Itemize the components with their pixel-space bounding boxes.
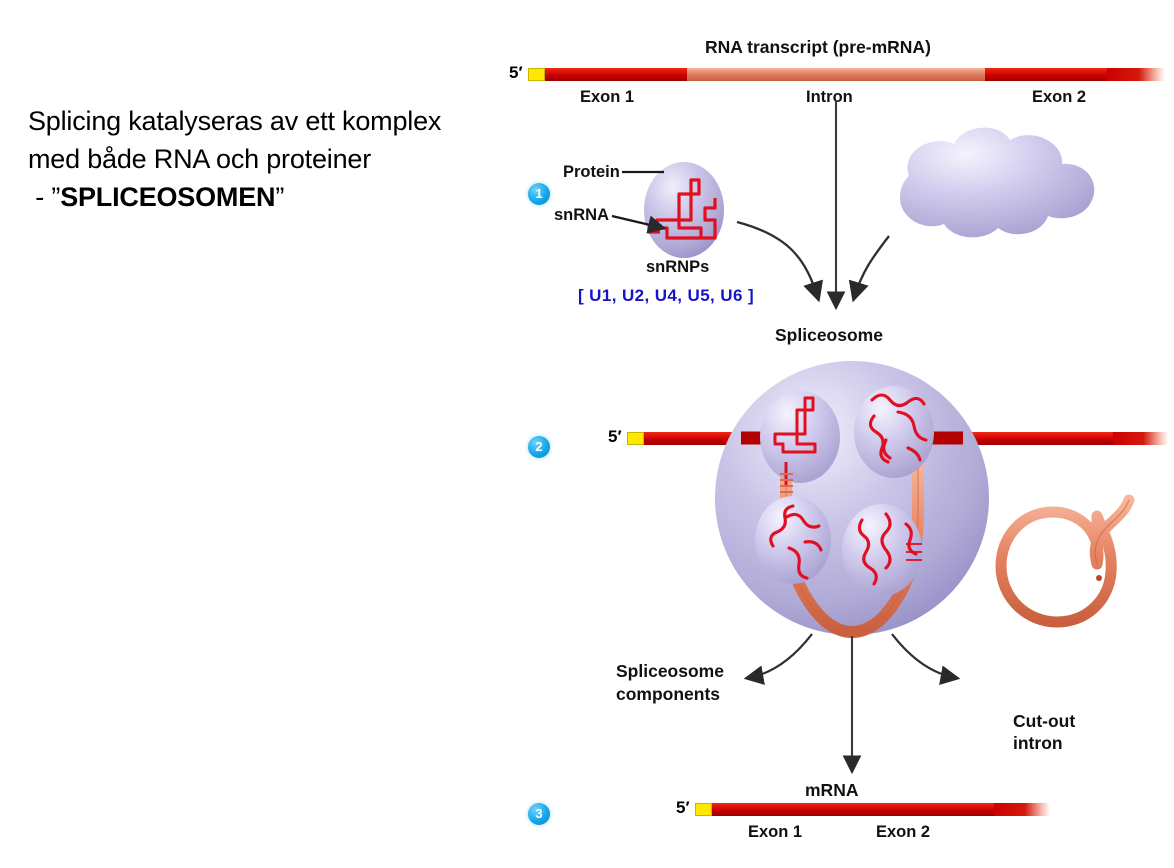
other-proteins-label: Other proteins [914, 196, 1035, 215]
five-prime-label-bottom: 5′ [676, 798, 690, 818]
spliceosome-keyword: SPLICEOSOMEN [60, 182, 275, 212]
five-prime-label-top: 5′ [509, 63, 523, 83]
cutout-intron-lariat-icon [1001, 500, 1129, 622]
mrna-title: mRNA [805, 781, 858, 800]
inner-snrnp-bottom-left [755, 496, 831, 584]
spliceosome-label: Spliceosome [775, 326, 883, 345]
exon1-bar-top [545, 68, 687, 81]
spliceosome-components-label-line2: components [616, 685, 720, 704]
five-prime-cap-middle [627, 432, 644, 445]
inner-snrnp-top-left [760, 391, 840, 486]
u-snrnp-list: [ U1, U2, U4, U5, U6 ] [578, 286, 754, 305]
cutout-intron-label-line2: intron [1013, 734, 1063, 753]
mrna-exon-bar-fade [994, 803, 1050, 816]
slide-body-text: Splicing katalyseras av ett komplex med … [28, 102, 498, 216]
exon1-label-top: Exon 1 [580, 88, 634, 107]
exon2-bar-fade-middle [1113, 432, 1168, 445]
step-3-badge: 3 [528, 803, 550, 825]
five-prime-cap-top [528, 68, 545, 81]
branch-point-pairing [780, 474, 793, 492]
cutout-intron-label-line1: Cut-out [1013, 712, 1075, 731]
protein-label: Protein [563, 163, 620, 182]
slide-text-line-2: med både RNA och proteiner [28, 140, 498, 178]
spliceosome-quote-prefix: - ” [28, 182, 60, 212]
mrna-exon-bar [712, 803, 994, 816]
spliceosome-complex-icon [715, 361, 989, 635]
mrna-exon2-label: Exon 2 [876, 823, 930, 842]
snrnp-particle-icon [644, 162, 724, 258]
slide-text-line-3: - ”SPLICEOSOMEN” [28, 178, 498, 216]
release-arrow-right [892, 634, 956, 678]
five-prime-label-middle: 5′ [608, 427, 622, 447]
inner-snrnp-bottom-right [842, 504, 922, 596]
mrna-exon1-label: Exon 1 [748, 823, 802, 842]
exon2-bar-top [985, 68, 1107, 81]
exon2-label-top: Exon 2 [1032, 88, 1086, 107]
other-proteins-blob-icon [900, 128, 1094, 238]
snrna-label: snRNA [554, 206, 609, 225]
intron-bar-top [687, 68, 985, 81]
snrnps-label: snRNPs [646, 258, 709, 277]
release-arrow-left [748, 634, 812, 678]
spliceosome-components-label-line1: Spliceosome [616, 662, 724, 681]
exon2-bar-fade-top [1107, 68, 1165, 81]
exon2-bar-middle [963, 432, 1113, 445]
rna-transcript-title: RNA transcript (pre-mRNA) [705, 38, 931, 57]
step-1-badge: 1 [528, 183, 550, 205]
snrna-leader-line [612, 216, 663, 228]
five-prime-cap-bottom [695, 803, 712, 816]
intron-label-top: Intron [806, 88, 853, 107]
step-2-badge: 2 [528, 436, 550, 458]
spliceosome-quote-suffix: ” [275, 182, 284, 212]
exon1-bar-middle [644, 432, 741, 445]
inner-snrnp-top-right [854, 386, 934, 478]
slide-text-line-1: Splicing katalyseras av ett komplex [28, 102, 498, 140]
slide-canvas: Splicing katalyseras av ett komplex med … [0, 0, 1174, 868]
other-proteins-to-spliceosome-arrow [854, 236, 889, 298]
